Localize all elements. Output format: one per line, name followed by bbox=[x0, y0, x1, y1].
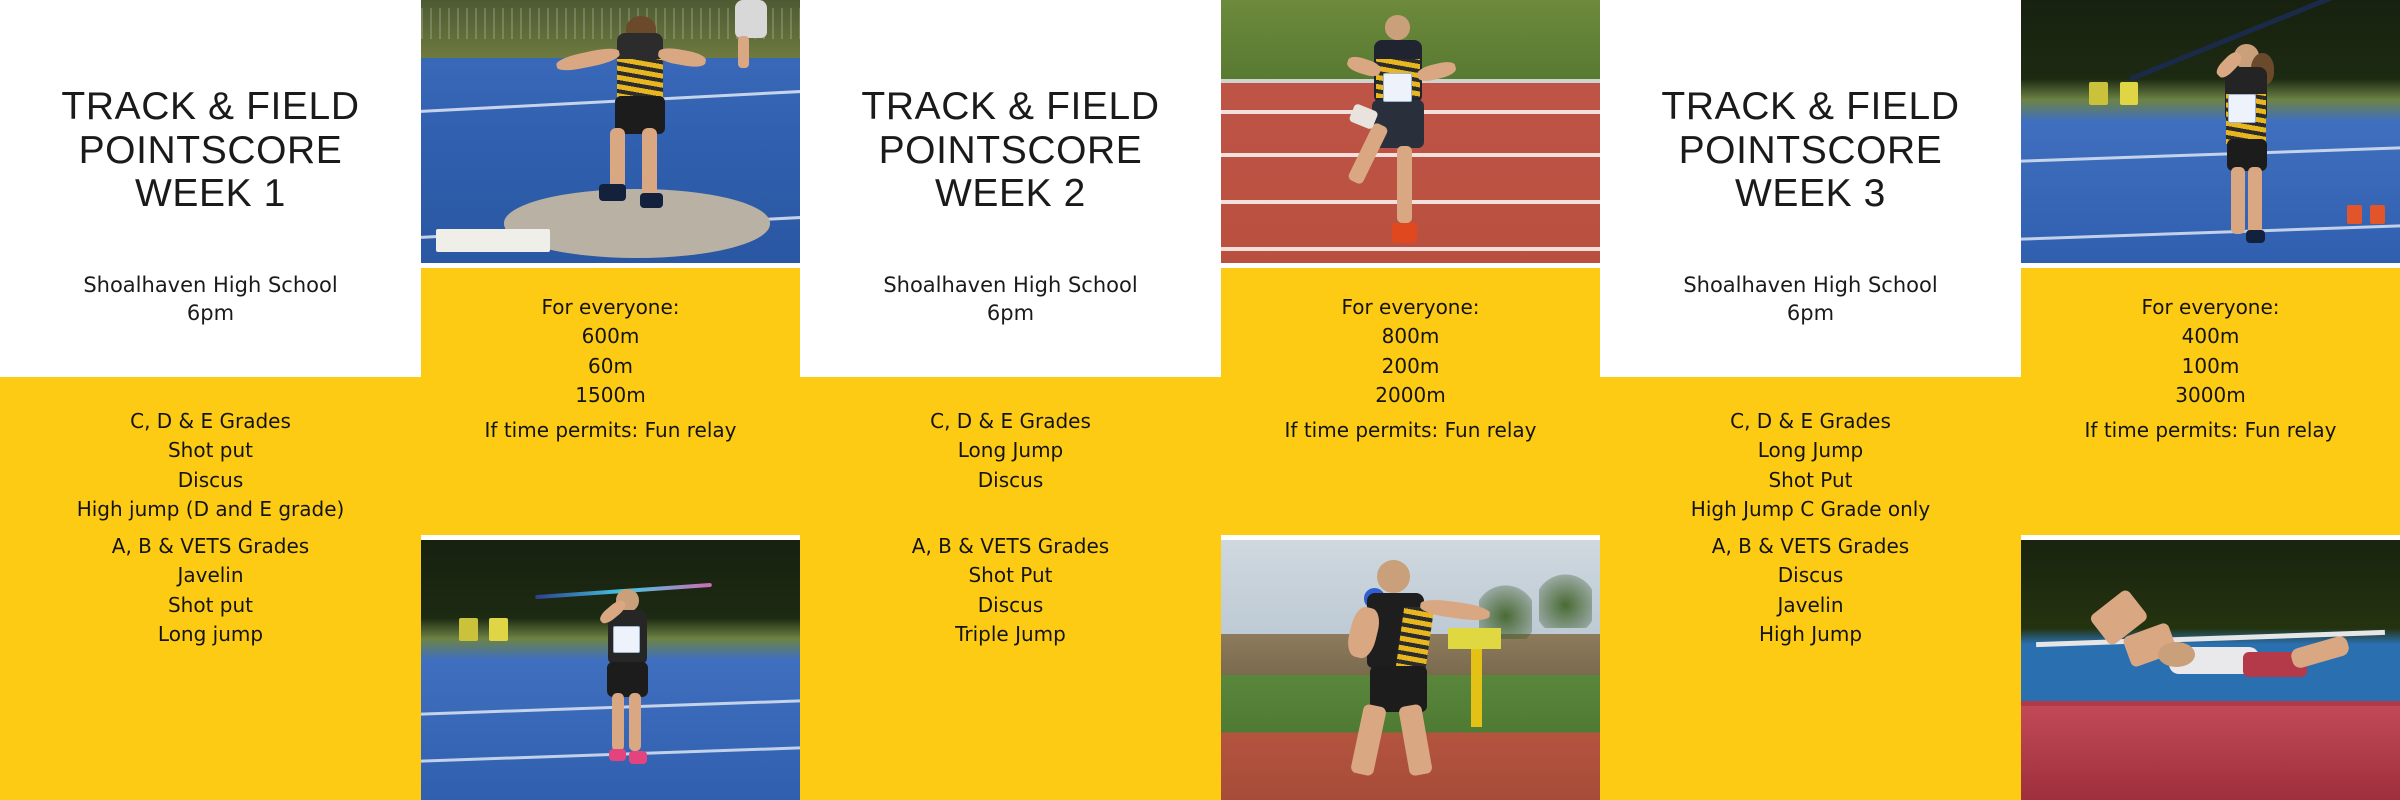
grade-event: Shot put bbox=[0, 436, 421, 465]
title-line-2: POINTSCORE bbox=[800, 129, 1221, 173]
venue-name: Shoalhaven High School bbox=[0, 272, 421, 300]
week-2-text-column: TRACK & FIELD POINTSCORE WEEK 2 Shoalhav… bbox=[800, 0, 1221, 800]
grade-event: Long Jump bbox=[800, 436, 1221, 465]
week-1-title: TRACK & FIELD POINTSCORE WEEK 1 bbox=[0, 85, 421, 216]
venue-name: Shoalhaven High School bbox=[800, 272, 1221, 300]
week-2-panel: TRACK & FIELD POINTSCORE WEEK 2 Shoalhav… bbox=[800, 0, 1600, 800]
everyone-event: 1500m bbox=[421, 381, 800, 410]
week-2-title: TRACK & FIELD POINTSCORE WEEK 2 bbox=[800, 85, 1221, 216]
grade-event: High Jump C Grade only bbox=[1600, 495, 2021, 524]
everyone-event: 3000m bbox=[2021, 381, 2400, 410]
everyone-event: 2000m bbox=[1221, 381, 1600, 410]
venue-time: 6pm bbox=[0, 300, 421, 328]
grade-event: Shot Put bbox=[1600, 466, 2021, 495]
week-2-grades-block: C, D & E Grades Long Jump Discus A, B & … bbox=[800, 377, 1221, 800]
week-2-grade-group-cde: C, D & E Grades Long Jump Discus bbox=[800, 407, 1221, 495]
week-1-grade-group-abvets: A, B & VETS Grades Javelin Shot put Long… bbox=[0, 532, 421, 650]
title-line-2: POINTSCORE bbox=[1600, 129, 2021, 173]
everyone-event: 400m bbox=[2021, 322, 2400, 351]
week-1-everyone-block: For everyone: 600m 60m 1500m If time per… bbox=[421, 268, 800, 535]
everyone-heading: For everyone: bbox=[2021, 293, 2400, 322]
week-3-panel: TRACK & FIELD POINTSCORE WEEK 3 Shoalhav… bbox=[1600, 0, 2400, 800]
everyone-heading: For everyone: bbox=[1221, 293, 1600, 322]
week-2-everyone-block: For everyone: 800m 200m 2000m If time pe… bbox=[1221, 268, 1600, 535]
grade-event: Long jump bbox=[0, 620, 421, 649]
everyone-event: 800m bbox=[1221, 322, 1600, 351]
poster-board: TRACK & FIELD POINTSCORE WEEK 1 Shoalhav… bbox=[0, 0, 2400, 800]
grade-event: Javelin bbox=[0, 561, 421, 590]
week-3-venue: Shoalhaven High School 6pm bbox=[1600, 272, 2021, 328]
javelin-woman-photo bbox=[421, 540, 800, 800]
grade-event: Discus bbox=[0, 466, 421, 495]
week-3-title: TRACK & FIELD POINTSCORE WEEK 3 bbox=[1600, 85, 2021, 216]
javelin-thrower-photo bbox=[2021, 0, 2400, 263]
week-3-relay-note: If time permits: Fun relay bbox=[2021, 418, 2400, 442]
grade-event: Shot Put bbox=[800, 561, 1221, 590]
everyone-event: 60m bbox=[421, 352, 800, 381]
title-line-1: TRACK & FIELD bbox=[1600, 85, 2021, 129]
grade-event: High Jump bbox=[1600, 620, 2021, 649]
grade-heading: A, B & VETS Grades bbox=[1600, 532, 2021, 561]
title-line-3: WEEK 1 bbox=[0, 172, 421, 216]
week-3-media-column: For everyone: 400m 100m 3000m If time pe… bbox=[2021, 0, 2400, 800]
grade-heading: C, D & E Grades bbox=[0, 407, 421, 436]
week-2-grade-group-abvets: A, B & VETS Grades Shot Put Discus Tripl… bbox=[800, 532, 1221, 650]
week-2-media-column: For everyone: 800m 200m 2000m If time pe… bbox=[1221, 0, 1600, 800]
high-jumper-photo bbox=[2021, 540, 2400, 800]
grade-event: Long Jump bbox=[1600, 436, 2021, 465]
week-3-grade-group-cde: C, D & E Grades Long Jump Shot Put High … bbox=[1600, 407, 2021, 525]
week-2-header-block: TRACK & FIELD POINTSCORE WEEK 2 Shoalhav… bbox=[800, 0, 1221, 377]
everyone-event: 200m bbox=[1221, 352, 1600, 381]
week-1-text-column: TRACK & FIELD POINTSCORE WEEK 1 Shoalhav… bbox=[0, 0, 421, 800]
grade-event: High jump (D and E grade) bbox=[0, 495, 421, 524]
shot-put-athlete-photo bbox=[421, 0, 800, 263]
title-line-3: WEEK 3 bbox=[1600, 172, 2021, 216]
week-2-venue: Shoalhaven High School 6pm bbox=[800, 272, 1221, 328]
everyone-heading: For everyone: bbox=[421, 293, 800, 322]
week-1-grade-group-cde: C, D & E Grades Shot put Discus High jum… bbox=[0, 407, 421, 525]
everyone-event: 100m bbox=[2021, 352, 2400, 381]
week-3-everyone-block: For everyone: 400m 100m 3000m If time pe… bbox=[2021, 268, 2400, 535]
grade-event: Shot put bbox=[0, 591, 421, 620]
grade-heading: C, D & E Grades bbox=[1600, 407, 2021, 436]
venue-time: 6pm bbox=[800, 300, 1221, 328]
everyone-event: 600m bbox=[421, 322, 800, 351]
grade-heading: A, B & VETS Grades bbox=[800, 532, 1221, 561]
grade-event: Javelin bbox=[1600, 591, 2021, 620]
boy-sprinting-photo bbox=[1221, 0, 1600, 263]
week-3-grades-block: C, D & E Grades Long Jump Shot Put High … bbox=[1600, 377, 2021, 800]
venue-time: 6pm bbox=[1600, 300, 2021, 328]
week-1-relay-note: If time permits: Fun relay bbox=[421, 418, 800, 442]
grade-event: Discus bbox=[1600, 561, 2021, 590]
week-1-header-block: TRACK & FIELD POINTSCORE WEEK 1 Shoalhav… bbox=[0, 0, 421, 377]
week-1-panel: TRACK & FIELD POINTSCORE WEEK 1 Shoalhav… bbox=[0, 0, 800, 800]
week-3-grade-group-abvets: A, B & VETS Grades Discus Javelin High J… bbox=[1600, 532, 2021, 650]
man-shot-put-photo bbox=[1221, 540, 1600, 800]
week-2-relay-note: If time permits: Fun relay bbox=[1221, 418, 1600, 442]
week-3-text-column: TRACK & FIELD POINTSCORE WEEK 3 Shoalhav… bbox=[1600, 0, 2021, 800]
title-line-2: POINTSCORE bbox=[0, 129, 421, 173]
week-1-grades-block: C, D & E Grades Shot put Discus High jum… bbox=[0, 377, 421, 800]
week-1-venue: Shoalhaven High School 6pm bbox=[0, 272, 421, 328]
venue-name: Shoalhaven High School bbox=[1600, 272, 2021, 300]
grade-heading: A, B & VETS Grades bbox=[0, 532, 421, 561]
grade-heading: C, D & E Grades bbox=[800, 407, 1221, 436]
grade-event: Discus bbox=[800, 591, 1221, 620]
title-line-1: TRACK & FIELD bbox=[0, 85, 421, 129]
week-1-media-column: For everyone: 600m 60m 1500m If time per… bbox=[421, 0, 800, 800]
title-line-3: WEEK 2 bbox=[800, 172, 1221, 216]
week-3-header-block: TRACK & FIELD POINTSCORE WEEK 3 Shoalhav… bbox=[1600, 0, 2021, 377]
title-line-1: TRACK & FIELD bbox=[800, 85, 1221, 129]
grade-event: Triple Jump bbox=[800, 620, 1221, 649]
grade-event: Discus bbox=[800, 466, 1221, 495]
